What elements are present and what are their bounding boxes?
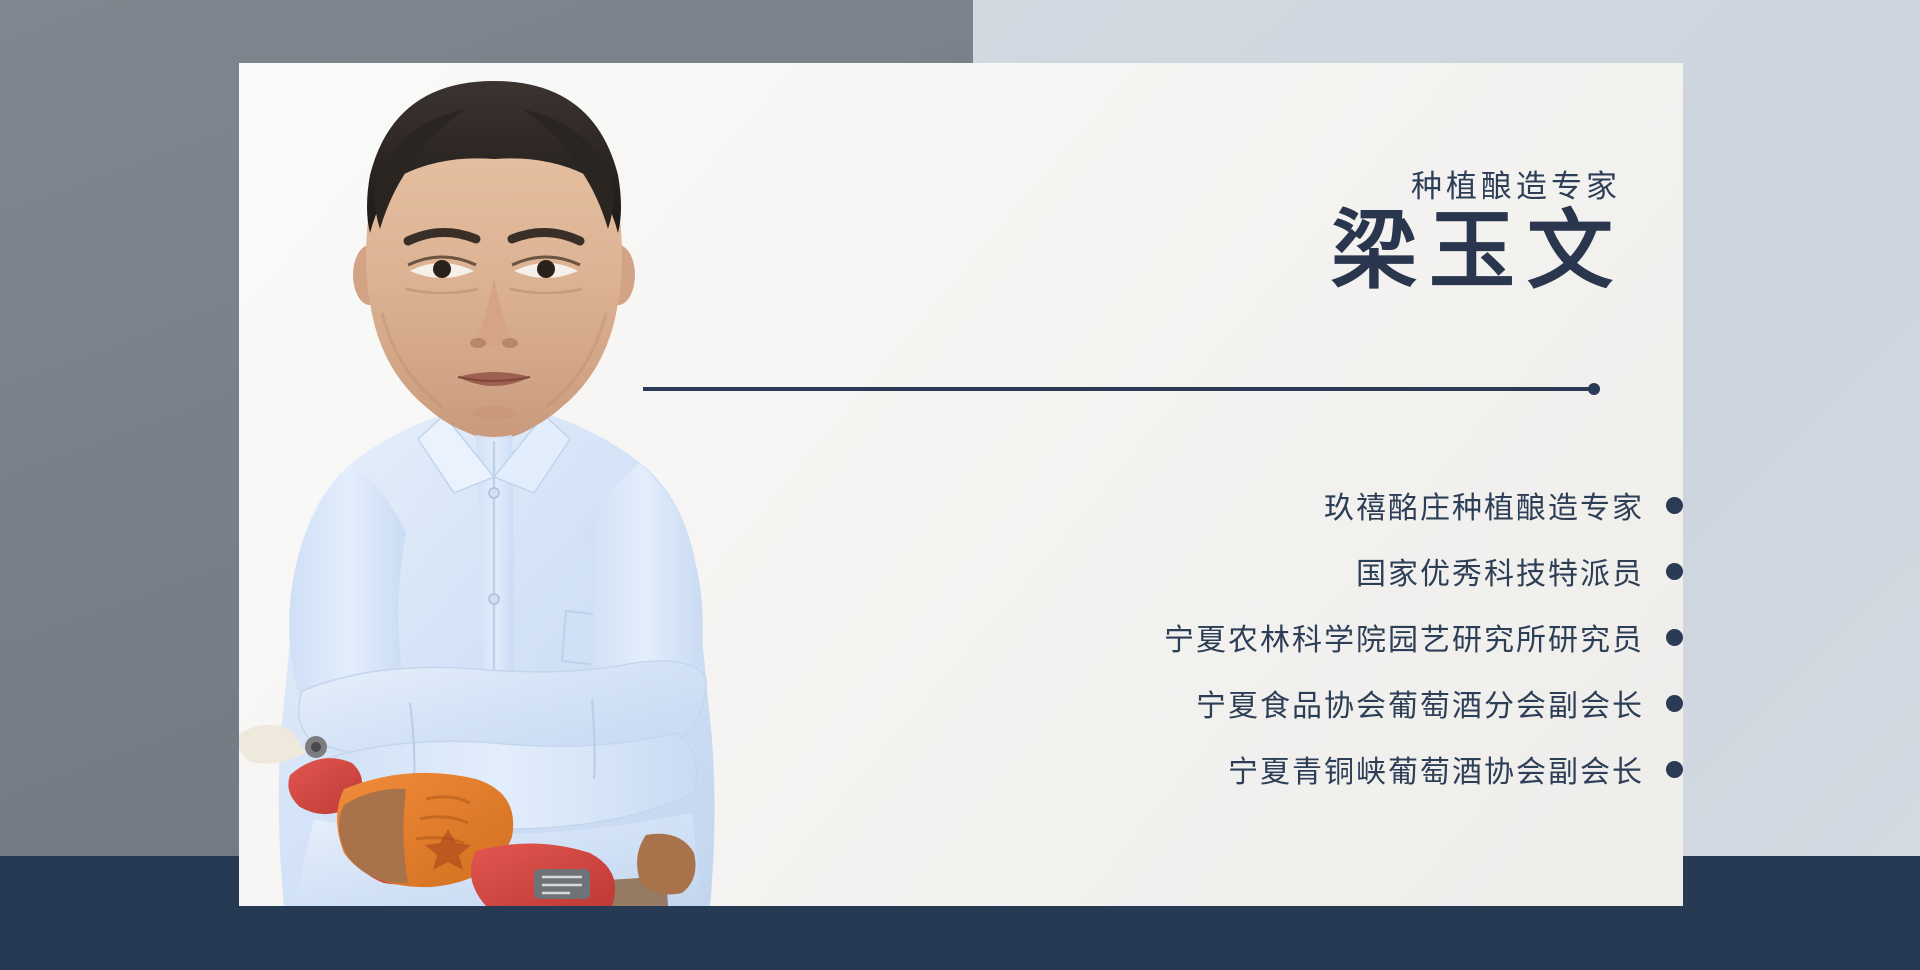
credential-label: 宁夏青铜峡葡萄酒协会副会长: [1228, 747, 1644, 791]
credential-label: 宁夏食品协会葡萄酒分会副会长: [1196, 681, 1644, 725]
list-item: 宁夏食品协会葡萄酒分会副会长: [863, 676, 1683, 730]
banner-stage: 种植酿造专家 梁玉文 玖禧酩庄种植酿造专家 国家优秀科技特派员 宁夏农林科学院园…: [0, 0, 1920, 970]
list-item: 国家优秀科技特派员: [863, 544, 1683, 598]
page-title: 梁玉文: [1331, 201, 1625, 302]
dot-bullet-icon: [1666, 695, 1683, 712]
profile-eyebrow-title: 种植酿造专家: [1411, 161, 1621, 206]
dot-bullet-icon: [1666, 497, 1683, 514]
credential-label: 国家优秀科技特派员: [1356, 549, 1644, 593]
credential-label: 玖禧酩庄种植酿造专家: [1324, 483, 1644, 527]
dot-bullet-icon: [1666, 629, 1683, 646]
expert-portrait-photo: [239, 63, 794, 906]
profile-card: 种植酿造专家 梁玉文 玖禧酩庄种植酿造专家 国家优秀科技特派员 宁夏农林科学院园…: [239, 63, 1683, 906]
divider-rule: [643, 387, 1594, 391]
dot-bullet-icon: [1666, 563, 1683, 580]
credentials-list: 玖禧酩庄种植酿造专家 国家优秀科技特派员 宁夏农林科学院园艺研究所研究员 宁夏食…: [863, 478, 1683, 808]
dot-bullet-icon: [1666, 761, 1683, 778]
list-item: 宁夏青铜峡葡萄酒协会副会长: [863, 742, 1683, 796]
divider-end-dot-icon: [1588, 383, 1600, 395]
title-divider: [643, 383, 1600, 395]
list-item: 玖禧酩庄种植酿造专家: [863, 478, 1683, 532]
list-item: 宁夏农林科学院园艺研究所研究员: [863, 610, 1683, 664]
credential-label: 宁夏农林科学院园艺研究所研究员: [1164, 615, 1644, 659]
